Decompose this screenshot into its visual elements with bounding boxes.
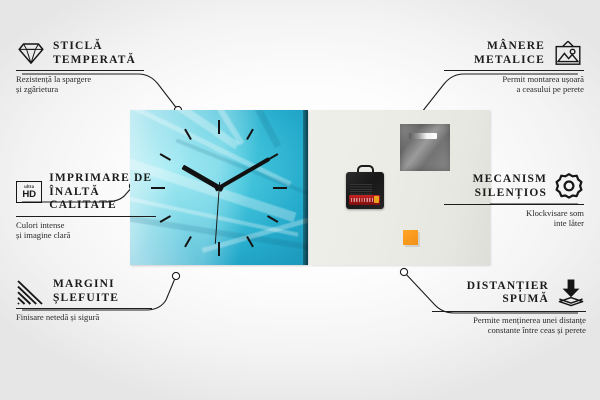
hour-marker (267, 215, 278, 223)
beveled-edge-icon (16, 279, 46, 305)
ultra-hd-main-label: HD (22, 190, 35, 200)
battery (349, 195, 380, 205)
feature-desc: Permite menținerea unei distanțe constan… (420, 315, 586, 335)
picture-frame-hanger-icon (552, 40, 584, 67)
hour-marker (246, 128, 254, 139)
battery-positive-terminal (374, 196, 379, 203)
feature-rule (444, 204, 584, 205)
feature-title: IMPRIMARE DE ÎNALTĂ CALITATE (49, 172, 168, 213)
minute-hand (214, 157, 270, 192)
hour-marker (273, 187, 287, 189)
glass-edge (303, 110, 308, 265)
feature-silent-mechanism: MECANISM SILENȚIOS Klockvisare som inte … (432, 172, 584, 228)
feature-polished-edges: MARGINI ȘLEFUITE Finisare netedă și sigu… (16, 278, 164, 322)
feature-title: DISTANȚIER SPUMĂ (467, 280, 549, 307)
quartz-mechanism (346, 165, 384, 209)
hanger-slot (409, 133, 437, 139)
feature-title: STICLĂ TEMPERATĂ (53, 40, 136, 67)
feature-title: MARGINI ȘLEFUITE (53, 278, 119, 305)
ultra-hd-icon: ultra HD (16, 181, 42, 203)
feature-metal-handles: MÂNERE METALICE Permit montarea ușoară a… (432, 40, 584, 94)
gear-icon (554, 172, 584, 201)
mechanism-body (346, 172, 384, 209)
hour-marker (184, 128, 192, 139)
feature-desc: Permit montarea ușoară a ceasului pe per… (432, 74, 584, 94)
feature-title: MECANISM SILENȚIOS (473, 173, 547, 200)
feature-desc: Culori intense și imagine clară (16, 220, 168, 240)
feature-desc: Rezistență la spargere și zgârietura (16, 74, 156, 94)
arrow-press-pad-icon (556, 278, 586, 308)
feature-desc: Finisare netedă și sigură (16, 312, 164, 322)
hour-marker (184, 235, 192, 246)
hour-marker (218, 120, 220, 134)
feature-rule (16, 308, 152, 309)
feature-rule (444, 70, 584, 71)
feature-rule (432, 311, 586, 312)
feature-foam-spacer: DISTANȚIER SPUMĂ Permite menținerea unei… (420, 278, 586, 335)
feature-rule (16, 216, 156, 217)
metal-hanger-plate (400, 124, 450, 171)
foam-spacer-pad (403, 230, 418, 245)
hour-marker (246, 235, 254, 246)
hour-marker (218, 242, 220, 256)
infographic-canvas: STICLĂ TEMPERATĂ Rezistență la spargere … (0, 0, 600, 400)
feature-rule (16, 70, 144, 71)
feature-tempered-glass: STICLĂ TEMPERATĂ Rezistență la spargere … (16, 40, 156, 94)
battery-label (351, 198, 373, 202)
hour-marker (160, 153, 171, 161)
feature-high-quality-print: ultra HD IMPRIMARE DE ÎNALTĂ CALITATE Cu… (16, 172, 168, 240)
feature-title: MÂNERE METALICE (474, 40, 545, 67)
feature-desc: Klockvisare som inte låter (432, 208, 584, 228)
diamond-icon (16, 41, 46, 66)
